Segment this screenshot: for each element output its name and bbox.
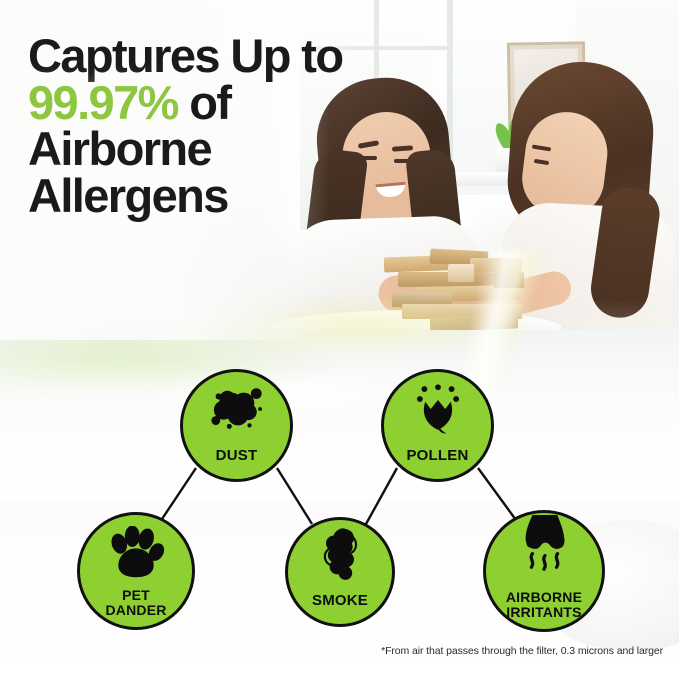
link-pollen-smoke [366, 468, 397, 524]
allergen-label-pollen: POLLEN [384, 448, 491, 463]
headline-line-4: Allergens [28, 173, 342, 220]
poster-root: ★ ★ ★ ★ Captures Up to 99.97% of Airborn… [0, 0, 679, 679]
flower-pollen-icon [407, 383, 469, 435]
allergen-node-pet-dander[interactable]: PET DANDER [77, 512, 195, 630]
allergen-node-pollen[interactable]: POLLEN [381, 369, 494, 482]
link-dust-pet [160, 468, 196, 522]
link-dust-smoke [277, 468, 312, 524]
headline-line-2: 99.97% of [28, 80, 342, 127]
dust-cloud-icon [206, 383, 268, 435]
headline-of: of [178, 76, 231, 129]
allergen-label-airborne-irritants-line2: IRRITANTS [506, 604, 581, 620]
headline-line-3: Airborne [28, 126, 342, 173]
allergen-label-dust: DUST [183, 448, 290, 463]
nose-sniff-icon [509, 515, 579, 575]
allergen-label-smoke: SMOKE [288, 593, 392, 608]
paw-print-icon [105, 527, 167, 579]
allergen-node-dust[interactable]: DUST [180, 369, 293, 482]
allergen-label-pet-dander-line2: DANDER [105, 602, 166, 618]
headline-line-1: Captures Up to [28, 33, 342, 80]
footnote-disclaimer: *From air that passes through the filter… [381, 645, 663, 657]
allergen-label-pet-dander: PET DANDER [80, 588, 192, 617]
headline-percentage: 99.97% [28, 76, 178, 129]
allergen-node-airborne-irritants[interactable]: AIRBORNE IRRITANTS [483, 510, 605, 632]
headline: Captures Up to 99.97% of Airborne Allerg… [28, 33, 342, 219]
allergen-node-smoke[interactable]: SMOKE [285, 517, 395, 627]
allergen-label-airborne-irritants: AIRBORNE IRRITANTS [486, 590, 602, 619]
smoke-plume-icon [309, 529, 371, 581]
link-pollen-irrit [478, 468, 516, 520]
